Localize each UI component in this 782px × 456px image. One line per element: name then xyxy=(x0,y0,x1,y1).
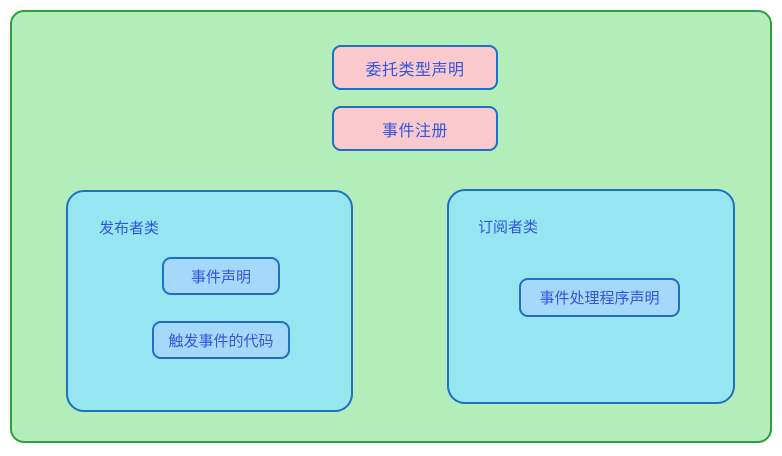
trigger-event-code-label: 触发事件的代码 xyxy=(168,330,273,351)
trigger-event-code-box[interactable]: 触发事件的代码 xyxy=(152,321,290,359)
subscriber-class-label: 订阅者类 xyxy=(478,216,538,237)
delegate-type-declaration-box[interactable]: 委托类型声明 xyxy=(332,45,498,90)
event-model-container: 委托类型声明 事件注册 发布者类 事件声明 触发事件的代码 订阅者类 事件处理程… xyxy=(10,10,772,443)
event-registration-label: 事件注册 xyxy=(382,117,448,141)
event-handler-declaration-label: 事件处理程序声明 xyxy=(539,287,659,308)
publisher-class-box[interactable]: 发布者类 事件声明 触发事件的代码 xyxy=(66,190,353,412)
delegate-type-declaration-label: 委托类型声明 xyxy=(365,56,464,80)
publisher-class-label: 发布者类 xyxy=(99,217,159,238)
event-declaration-label: 事件声明 xyxy=(191,266,251,287)
subscriber-class-box[interactable]: 订阅者类 事件处理程序声明 xyxy=(447,189,735,404)
diagram-canvas: 委托类型声明 事件注册 发布者类 事件声明 触发事件的代码 订阅者类 事件处理程… xyxy=(0,0,782,456)
event-handler-declaration-box[interactable]: 事件处理程序声明 xyxy=(519,278,680,317)
event-registration-box[interactable]: 事件注册 xyxy=(332,106,498,151)
event-declaration-box[interactable]: 事件声明 xyxy=(162,257,280,295)
